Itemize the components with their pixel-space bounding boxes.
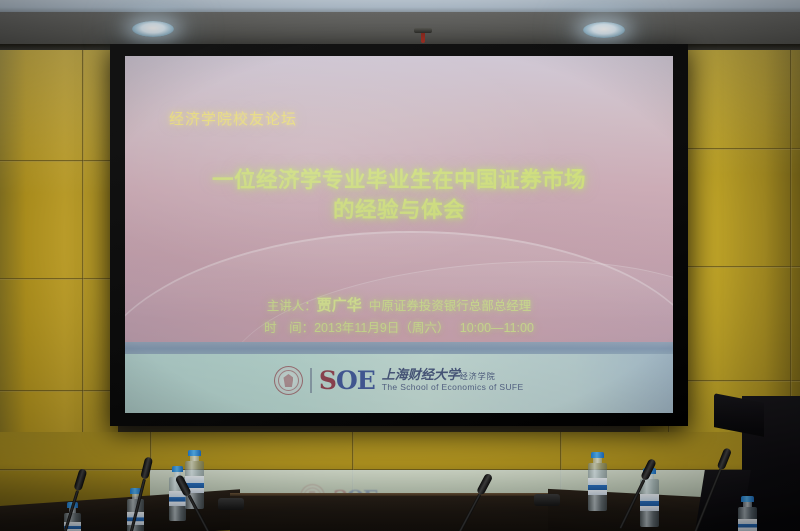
slide-time-line: 时 间：2013年11月9日（周六） 10:00—11:00 xyxy=(125,318,673,338)
bottle-body xyxy=(588,463,607,511)
speaker-affiliation: 中原证券投资银行总部总经理 xyxy=(369,299,532,313)
microphone-base xyxy=(534,494,560,506)
head-table-edge xyxy=(230,493,560,496)
microphone-base-2 xyxy=(534,494,560,506)
bottle-label xyxy=(738,519,757,531)
microphone-base xyxy=(218,498,244,510)
logo-divider xyxy=(310,368,311,393)
time-value: 2013年11月9日（周六） xyxy=(314,321,449,335)
soe-letter-o: O xyxy=(336,366,357,395)
downlight-icon-left xyxy=(132,21,174,37)
projection-screen-surface: 经济学院校友论坛 一位经济学专业毕业生在中国证券市场 的经验与体会 主讲人：贾广… xyxy=(125,56,673,413)
logo-school-cn: 经济学院 xyxy=(460,372,496,381)
slide-logo-row: SOE 上海财经大学经济学院 The School of Economics o… xyxy=(125,366,673,395)
water-bottle-7 xyxy=(738,496,757,531)
logo-text-block: 上海财经大学经济学院 The School of Economics of SU… xyxy=(382,369,524,393)
bottle-label xyxy=(588,478,607,494)
microphone-base-1 xyxy=(218,498,244,510)
bottle-body xyxy=(738,507,757,531)
slide-speaker-line: 主讲人：贾广华 中原证券投资银行总部总经理 xyxy=(125,294,673,318)
time-range: 10:00—11:00 xyxy=(460,321,534,335)
soe-monogram: SOE xyxy=(319,368,375,393)
bottle-label xyxy=(640,494,659,510)
speaker-label: 主讲人： xyxy=(267,299,317,313)
soe-letter-s: S xyxy=(319,366,336,395)
speaker-name: 贾广华 xyxy=(317,297,362,314)
logo-university-cn: 上海财经大学 xyxy=(382,368,460,383)
slide-meta-block: 主讲人：贾广华 中原证券投资银行总部总经理 时 间：2013年11月9日（周六）… xyxy=(125,294,673,339)
slide-title-line-1: 一位经济学专业毕业生在中国证券市场 xyxy=(125,166,673,196)
fire-sprinkler-icon xyxy=(414,28,432,33)
downlight-icon-right xyxy=(583,22,625,38)
projection-screen-frame: 经济学院校友论坛 一位经济学专业毕业生在中国证券市场 的经验与体会 主讲人：贾广… xyxy=(110,44,688,426)
slide-title-line-2: 的经验与体会 xyxy=(125,196,673,226)
head-table-center xyxy=(230,494,560,531)
slide-title: 一位经济学专业毕业生在中国证券市场 的经验与体会 xyxy=(125,166,673,225)
conference-room-photo: 经济学院校友论坛 一位经济学专业毕业生在中国证券市场 的经验与体会 主讲人：贾广… xyxy=(0,0,800,531)
time-label: 时 间： xyxy=(264,321,314,335)
soe-letter-e: E xyxy=(357,366,375,395)
slide-kicker-text: 经济学院校友论坛 xyxy=(169,108,297,129)
water-bottle-5 xyxy=(588,452,607,511)
logo-english-line: The School of Economics of SUFE xyxy=(382,383,524,392)
logo-chinese-line: 上海财经大学经济学院 xyxy=(382,369,524,383)
university-seal-icon xyxy=(274,366,303,395)
